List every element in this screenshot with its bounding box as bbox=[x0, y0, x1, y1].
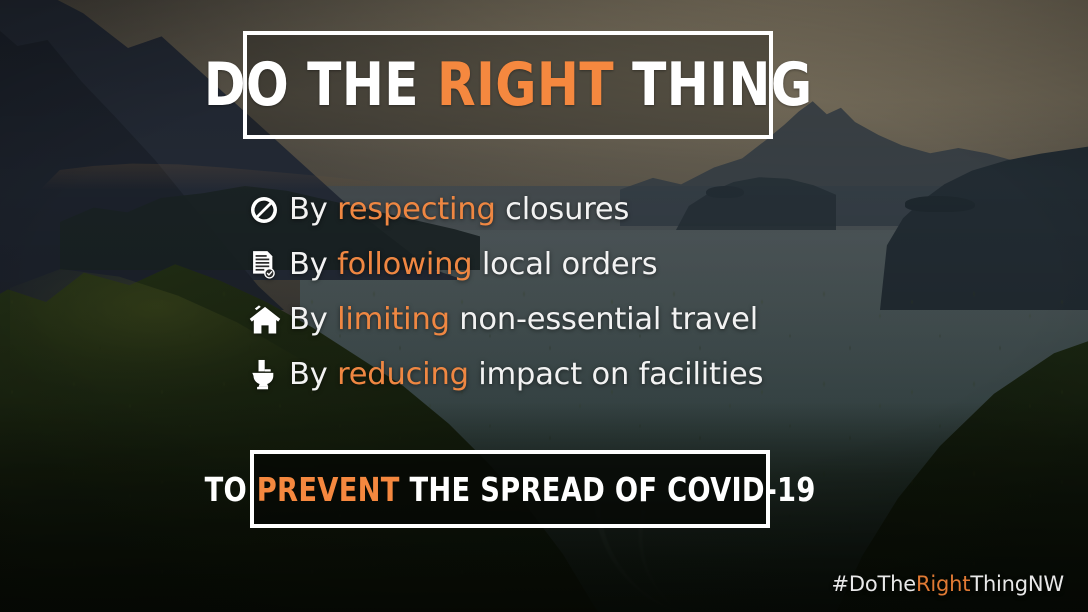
document-check-icon bbox=[249, 246, 289, 284]
home-icon bbox=[249, 301, 289, 339]
banner-label: TO PREVENT THE SPREAD OF COVID-19 bbox=[204, 473, 815, 506]
toilet-icon bbox=[249, 356, 289, 394]
list-item: By respecting closures bbox=[249, 182, 949, 237]
poster-root: DO THE RIGHT THING By respecting closure… bbox=[0, 0, 1088, 612]
campaign-hashtag: #DoTheRightThingNW bbox=[832, 572, 1064, 596]
poster-content: DO THE RIGHT THING By respecting closure… bbox=[0, 0, 1088, 612]
list-item: By limiting non-essential travel bbox=[249, 292, 949, 347]
list-item-label: By respecting closures bbox=[289, 192, 629, 227]
list-item-label: By reducing impact on facilities bbox=[289, 357, 763, 392]
title-box: DO THE RIGHT THING bbox=[243, 31, 773, 139]
list-item: By reducing impact on facilities bbox=[249, 347, 949, 402]
page-title: DO THE RIGHT THING bbox=[204, 55, 813, 115]
prevent-spread-banner: TO PREVENT THE SPREAD OF COVID-19 bbox=[250, 450, 770, 528]
prohibition-sign-icon bbox=[249, 191, 289, 229]
list-item: By following local orders bbox=[249, 237, 949, 292]
list-item-label: By limiting non-essential travel bbox=[289, 302, 758, 337]
action-list: By respecting closures bbox=[249, 182, 949, 402]
list-item-label: By following local orders bbox=[289, 247, 657, 282]
